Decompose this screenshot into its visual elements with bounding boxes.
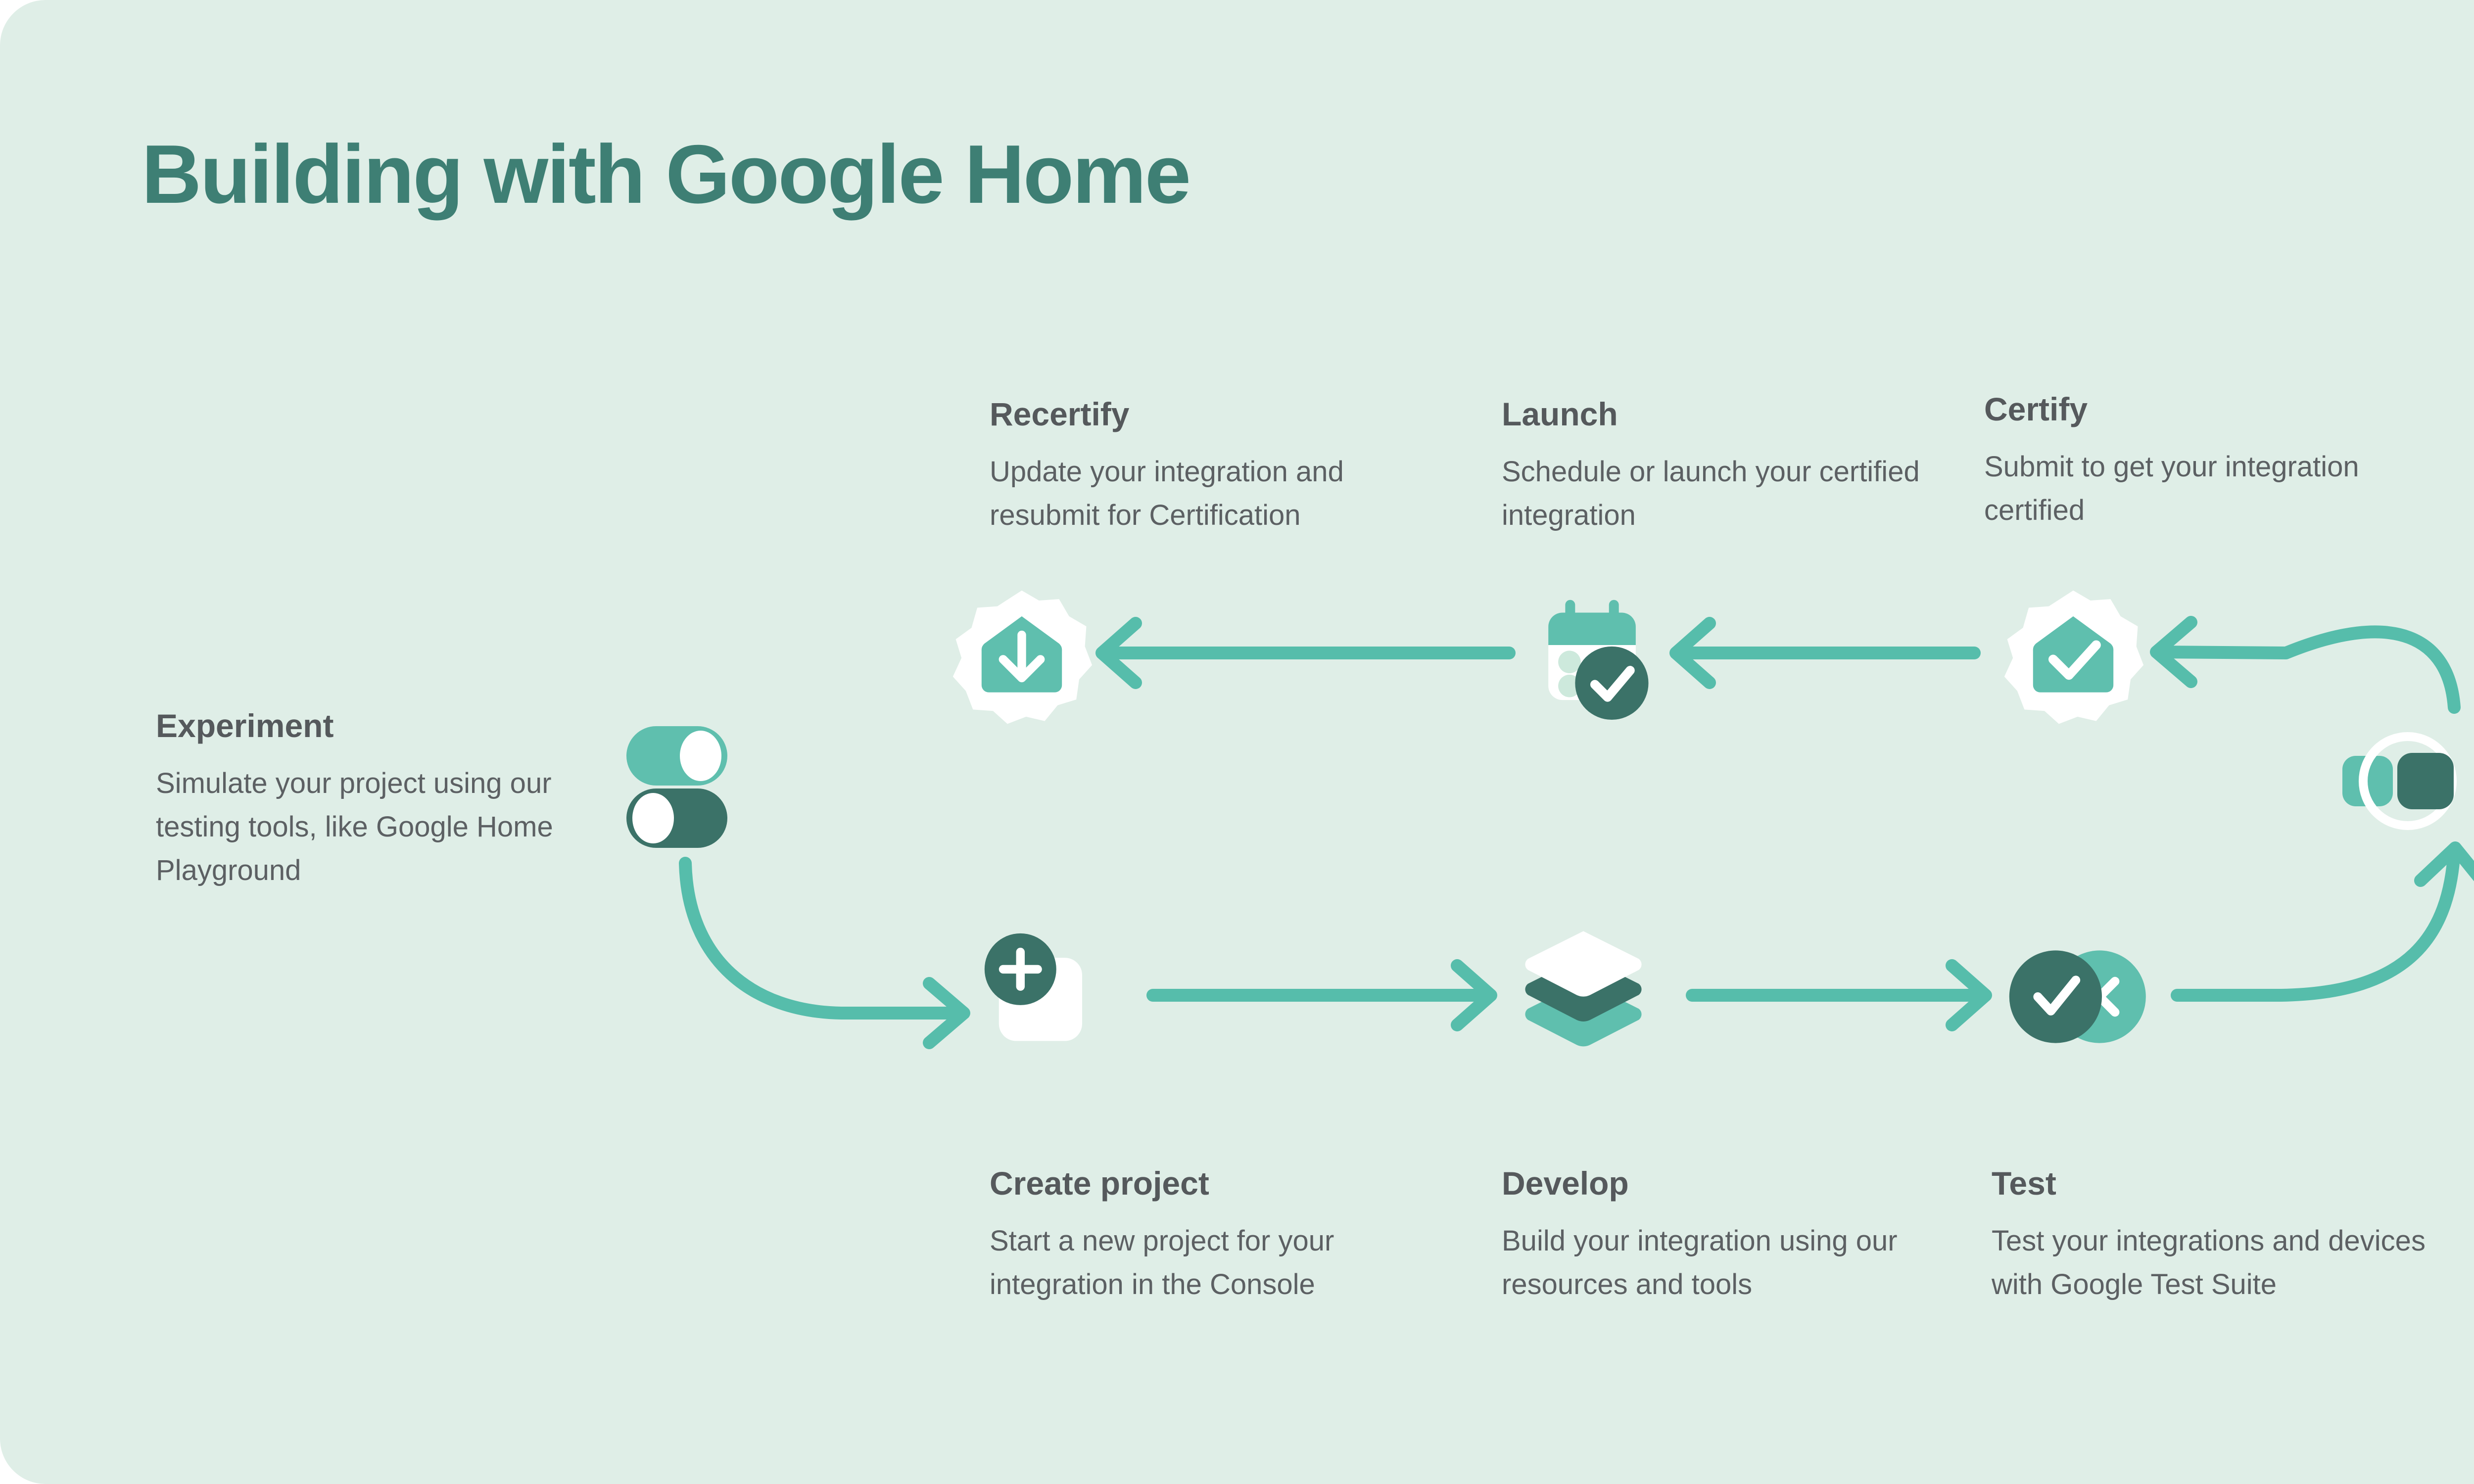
connector-create-project-to-develop	[1153, 966, 1491, 1025]
node-launch-description: Schedule or launch your certified integr…	[1502, 450, 1937, 537]
node-certify-title: Certify	[1984, 391, 2420, 428]
connector-experiment-to-create-project	[685, 863, 964, 1043]
node-launch: Launch Schedule or launch your certified…	[1502, 396, 1937, 537]
node-create-project-title: Create project	[990, 1165, 1425, 1203]
connector-launch-to-recertify	[1102, 623, 1509, 683]
node-certify: Certify Submit to get your integration c…	[1984, 391, 2420, 532]
node-develop-title: Develop	[1502, 1165, 1937, 1203]
node-recertify: Recertify Update your integration and re…	[990, 396, 1425, 537]
diagram-card: Building with Google Home	[0, 0, 2474, 1484]
calendar-check-icon	[1531, 589, 1672, 732]
layers-icon	[1514, 920, 1653, 1061]
node-experiment-title: Experiment	[156, 707, 591, 745]
connector-field-trial-to-certify	[2156, 622, 2454, 707]
add-project-icon	[967, 918, 1111, 1064]
devices-trial-icon	[2316, 702, 2464, 853]
pass-fail-icon	[1999, 937, 2157, 1059]
connector-certify-to-launch	[1676, 623, 1974, 683]
badge-download-icon	[950, 586, 1094, 732]
node-test: Test Test your integrations and devices …	[1992, 1165, 2437, 1306]
node-experiment-description: Simulate your project using our testing …	[156, 762, 591, 892]
node-experiment: Experiment Simulate your project using o…	[156, 707, 591, 892]
node-certify-description: Submit to get your integration certified	[1984, 445, 2420, 532]
badge-check-icon	[2001, 586, 2145, 732]
node-develop: Develop Build your integration using our…	[1502, 1165, 1937, 1306]
node-create-project-description: Start a new project for your integration…	[990, 1219, 1425, 1306]
node-recertify-description: Update your integration and resubmit for…	[990, 450, 1425, 537]
node-test-title: Test	[1992, 1165, 2437, 1203]
node-launch-title: Launch	[1502, 396, 1937, 433]
node-create-project: Create project Start a new project for y…	[990, 1165, 1425, 1306]
connector-test-to-field-trial	[2177, 848, 2474, 995]
node-develop-description: Build your integration using our resourc…	[1502, 1219, 1937, 1306]
node-recertify-title: Recertify	[990, 396, 1425, 433]
node-test-description: Test your integrations and devices with …	[1992, 1219, 2437, 1306]
toggle-switches-icon	[603, 702, 751, 853]
connector-develop-to-test	[1692, 966, 1986, 1025]
